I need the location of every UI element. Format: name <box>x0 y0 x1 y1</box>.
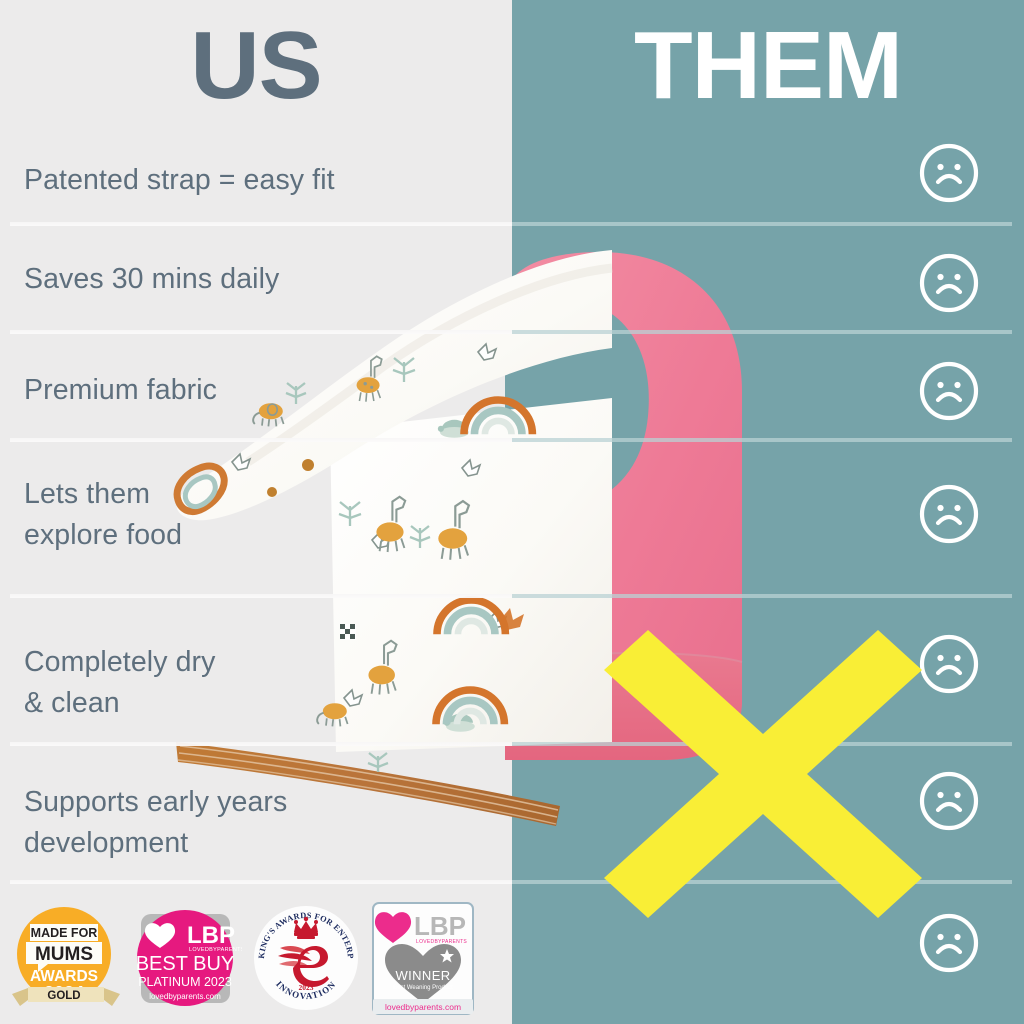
svg-text:WINNER: WINNER <box>395 968 450 983</box>
feature-label-dry-and-clean: Completely dry & clean <box>24 642 494 724</box>
sad-face-icon <box>918 770 980 832</box>
feature-line: Completely dry <box>24 642 494 683</box>
svg-text:MADE FOR: MADE FOR <box>31 926 98 940</box>
sad-face-icon <box>918 912 980 974</box>
sad-face-icon <box>918 360 980 422</box>
header-them: THEM <box>512 18 1024 114</box>
comparison-infographic: US THEM Patented strap = easy fit Saves … <box>0 0 1024 1024</box>
sad-face-icon <box>918 633 980 695</box>
svg-text:LBP: LBP <box>187 922 235 949</box>
svg-text:2023: 2023 <box>299 983 314 992</box>
svg-text:lovedbyparents.com: lovedbyparents.com <box>385 1002 461 1012</box>
feature-line: development <box>24 823 494 864</box>
feature-line: Premium fabric <box>24 370 494 411</box>
svg-text:lovedbyparents.com: lovedbyparents.com <box>149 992 221 1001</box>
loved-by-parents-winner-badge: LBP LOVEDBYPARENTS WINNER Best Weaning P… <box>371 901 475 1016</box>
sad-face-icon <box>918 142 980 204</box>
svg-text:Best Weaning Product: Best Weaning Product <box>393 985 453 991</box>
sad-face-icon <box>918 483 980 545</box>
svg-text:BEST BUY: BEST BUY <box>136 953 235 975</box>
feature-label-patented-strap: Patented strap = easy fit <box>24 160 494 201</box>
svg-text:PLATINUM 2023: PLATINUM 2023 <box>138 975 232 989</box>
feature-line: Saves 30 mins daily <box>24 259 494 300</box>
loved-by-parents-best-buy-badge: LBP LOVEDBYPARENTS BEST BUY PLATINUM 202… <box>129 902 242 1015</box>
feature-label-premium-fabric: Premium fabric <box>24 370 494 411</box>
feature-label-saves-time: Saves 30 mins daily <box>24 259 494 300</box>
cross-mark-icon <box>604 630 922 918</box>
svg-text:LOVEDBYPARENTS: LOVEDBYPARENTS <box>416 939 467 945</box>
kings-awards-for-enterprise-badge: THE KING'S AWARDS FOR ENTERPRISE INNOVAT… <box>250 902 363 1015</box>
feature-label-early-years: Supports early years development <box>24 782 494 864</box>
feature-line: & clean <box>24 683 494 724</box>
feature-line: Supports early years <box>24 782 494 823</box>
feature-line: Patented strap = easy fit <box>24 160 494 201</box>
feature-line: explore food <box>24 515 494 556</box>
svg-text:MUMS: MUMS <box>35 944 93 965</box>
feature-label-explore-food: Lets them explore food <box>24 474 494 556</box>
svg-text:GOLD: GOLD <box>47 990 80 1002</box>
svg-text:LBP: LBP <box>414 911 466 941</box>
award-badges-row: MADE FOR MUMS AWARDS 2024 GOLD LBP LOVED… <box>0 898 512 1018</box>
header-us: US <box>0 18 512 114</box>
feature-line: Lets them <box>24 474 494 515</box>
made-for-mums-gold-award-badge: MADE FOR MUMS AWARDS 2024 GOLD <box>8 902 121 1015</box>
sad-face-icon <box>918 252 980 314</box>
